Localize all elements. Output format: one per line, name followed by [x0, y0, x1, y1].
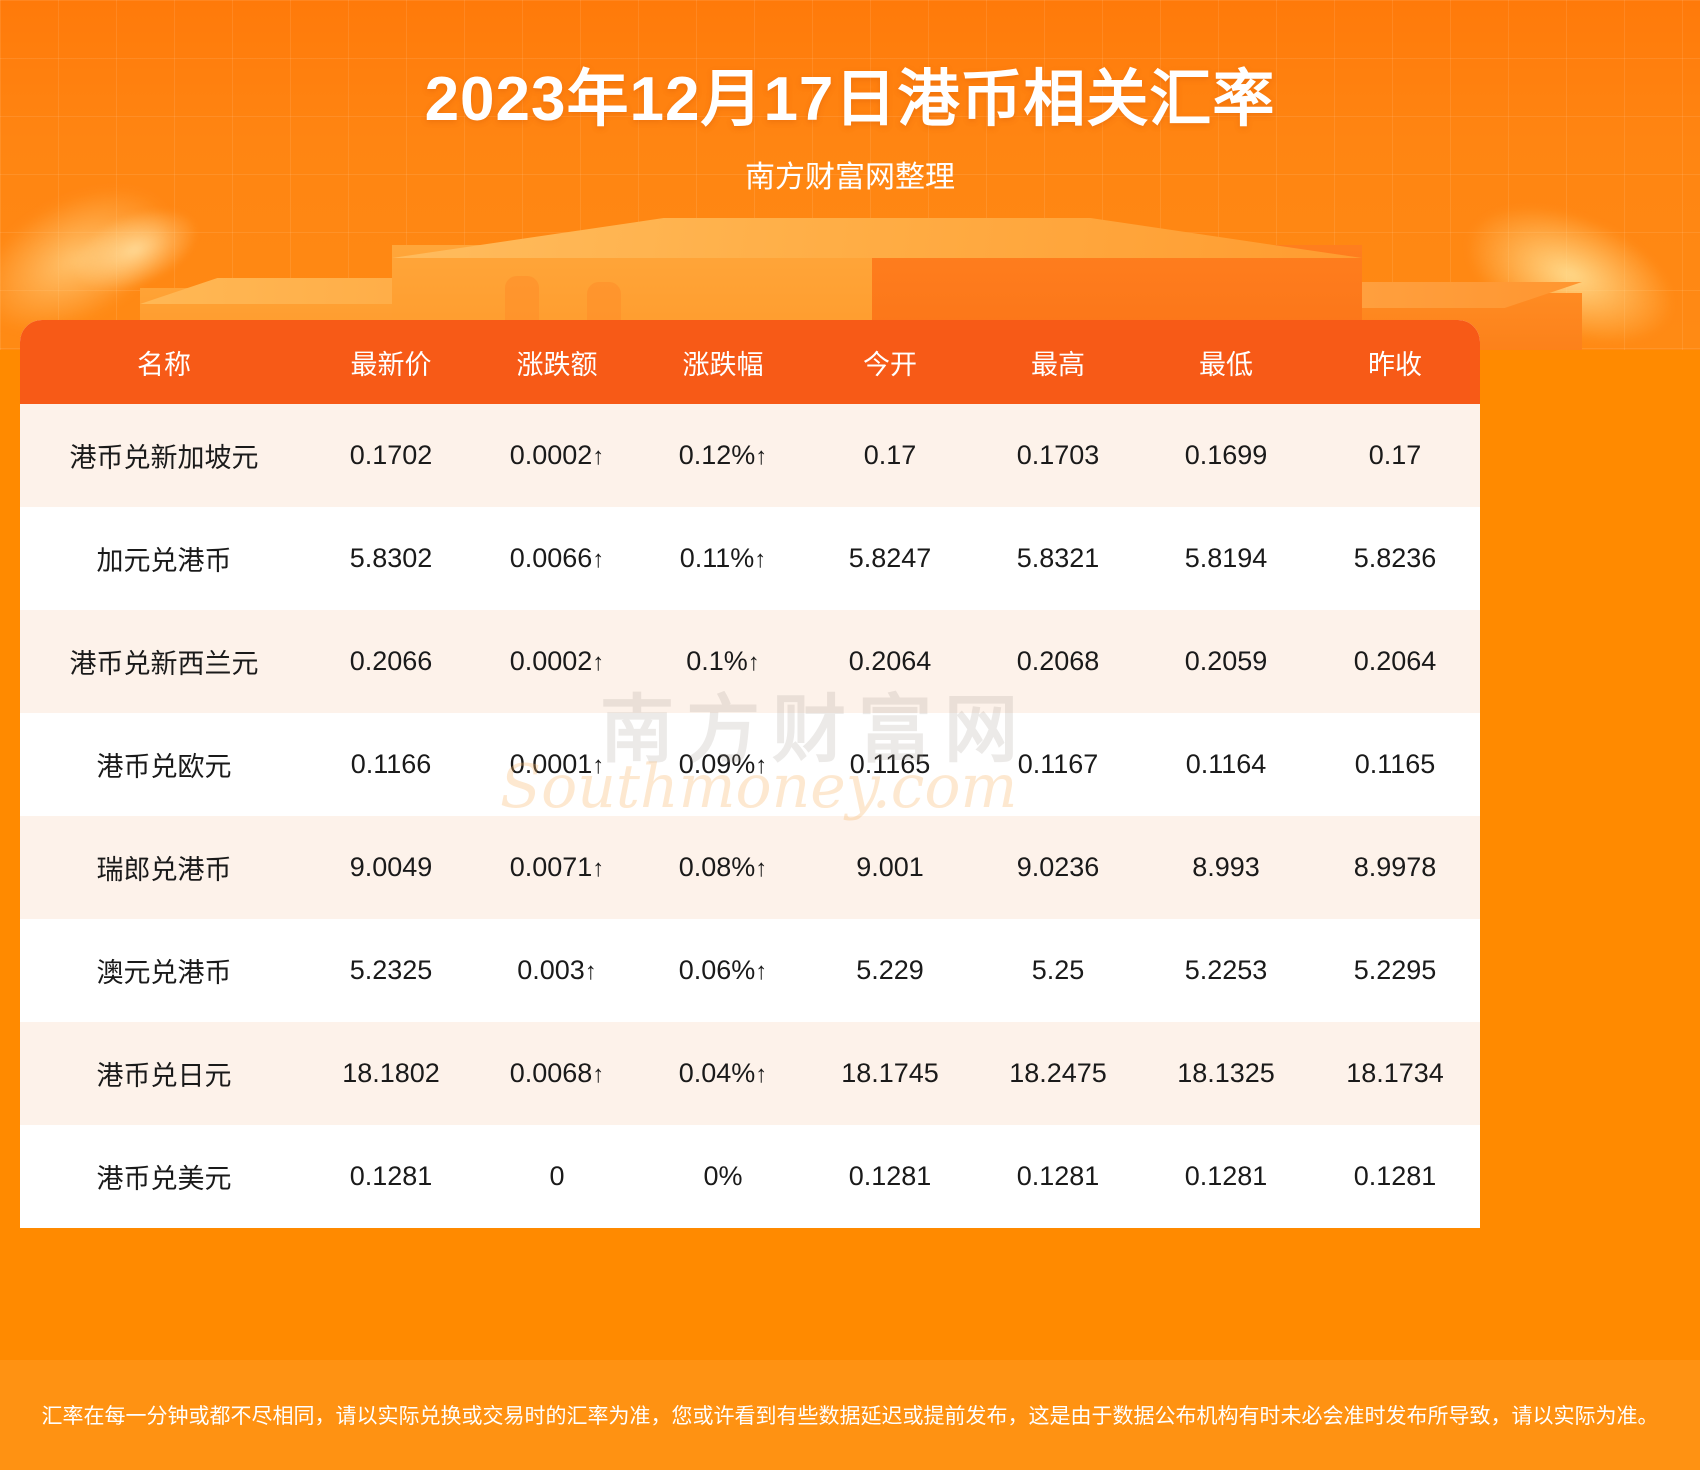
footer-disclaimer-bar: 汇率在每一分钟或都不尽相同，请以实际兑换或交易时的汇率为准，您或许看到有些数据延…: [0, 1360, 1700, 1470]
cell-high-price: 18.2475: [974, 1022, 1142, 1125]
cell-prev-close-price: 0.2064: [1310, 610, 1480, 713]
cell-name: 澳元兑港币: [20, 919, 308, 1022]
cell-latest-price: 9.0049: [308, 816, 474, 919]
arrow-up-icon: ↑: [755, 1061, 767, 1088]
cell-low-price: 5.2253: [1142, 919, 1310, 1022]
cell-change-amount: 0.0002↑: [474, 610, 640, 713]
cell-name: 瑞郎兑港币: [20, 816, 308, 919]
cell-prev-close-price: 5.8236: [1310, 507, 1480, 610]
cell-latest-price: 5.8302: [308, 507, 474, 610]
cell-prev-close-price: 8.9978: [1310, 816, 1480, 919]
arrow-up-icon: ↑: [592, 546, 604, 573]
column-header-name: 名称: [20, 320, 308, 404]
column-header-prev-close: 昨收: [1310, 320, 1480, 404]
cell-low-price: 0.1699: [1142, 404, 1310, 507]
cell-change-percent: 0.04%↑: [640, 1022, 806, 1125]
column-header-pct: 涨跌幅: [640, 320, 806, 404]
cell-name: 港币兑新加坡元: [20, 404, 308, 507]
cell-high-price: 0.1703: [974, 404, 1142, 507]
cell-change-percent: 0.09%↑: [640, 713, 806, 816]
arrow-up-icon: ↑: [592, 649, 604, 676]
cell-low-price: 8.993: [1142, 816, 1310, 919]
cell-change-amount: 0.0071↑: [474, 816, 640, 919]
table-row: 港币兑日元18.18020.0068↑0.04%↑18.174518.24751…: [20, 1022, 1480, 1125]
cell-change-amount: 0.003↑: [474, 919, 640, 1022]
cell-open-price: 0.17: [806, 404, 974, 507]
column-header-change: 涨跌额: [474, 320, 640, 404]
arrow-up-icon: ↑: [592, 443, 604, 470]
page-subtitle: 南方财富网整理: [0, 152, 1700, 196]
cell-change-amount: 0.0001↑: [474, 713, 640, 816]
table-row: 港币兑美元0.128100%0.12810.12810.12810.1281: [20, 1125, 1480, 1228]
arrow-up-icon: ↑: [754, 546, 766, 573]
cell-open-price: 18.1745: [806, 1022, 974, 1125]
cell-change-percent: 0%: [640, 1125, 806, 1228]
table-row: 港币兑新西兰元0.20660.0002↑0.1%↑0.20640.20680.2…: [20, 610, 1480, 713]
table-row: 港币兑新加坡元0.17020.0002↑0.12%↑0.170.17030.16…: [20, 404, 1480, 507]
arrow-up-icon: ↑: [592, 752, 604, 779]
cell-change-amount: 0.0068↑: [474, 1022, 640, 1125]
cell-change-percent: 0.1%↑: [640, 610, 806, 713]
cell-latest-price: 18.1802: [308, 1022, 474, 1125]
column-header-latest: 最新价: [308, 320, 474, 404]
cell-change-percent: 0.08%↑: [640, 816, 806, 919]
cell-open-price: 0.1165: [806, 713, 974, 816]
cell-high-price: 9.0236: [974, 816, 1142, 919]
cell-change-percent: 0.12%↑: [640, 404, 806, 507]
cell-name: 港币兑美元: [20, 1125, 308, 1228]
cell-high-price: 5.25: [974, 919, 1142, 1022]
cell-name: 加元兑港币: [20, 507, 308, 610]
cell-prev-close-price: 0.17: [1310, 404, 1480, 507]
cell-latest-price: 0.1281: [308, 1125, 474, 1228]
cell-high-price: 0.2068: [974, 610, 1142, 713]
cell-high-price: 0.1281: [974, 1125, 1142, 1228]
rates-table-head: 名称 最新价 涨跌额 涨跌幅 今开 最高 最低 昨收: [20, 320, 1480, 404]
cell-open-price: 5.8247: [806, 507, 974, 610]
cell-open-price: 5.229: [806, 919, 974, 1022]
cell-change-amount: 0.0066↑: [474, 507, 640, 610]
rates-table-body: 港币兑新加坡元0.17020.0002↑0.12%↑0.170.17030.16…: [20, 404, 1480, 1228]
podium-notch-one: [505, 276, 539, 326]
cell-low-price: 0.1164: [1142, 713, 1310, 816]
cell-prev-close-price: 0.1165: [1310, 713, 1480, 816]
table-header-row: 名称 最新价 涨跌额 涨跌幅 今开 最高 最低 昨收: [20, 320, 1480, 404]
arrow-up-icon: ↑: [592, 855, 604, 882]
column-header-open: 今开: [806, 320, 974, 404]
cell-open-price: 0.2064: [806, 610, 974, 713]
arrow-up-icon: ↑: [755, 958, 767, 985]
arrow-up-icon: ↑: [748, 649, 760, 676]
cell-open-price: 0.1281: [806, 1125, 974, 1228]
cell-latest-price: 5.2325: [308, 919, 474, 1022]
rates-table-card: 名称 最新价 涨跌额 涨跌幅 今开 最高 最低 昨收 港币兑新加坡元0.1702…: [20, 320, 1480, 1228]
cell-prev-close-price: 18.1734: [1310, 1022, 1480, 1125]
arrow-up-icon: ↑: [592, 1061, 604, 1088]
footer-disclaimer-text: 汇率在每一分钟或都不尽相同，请以实际兑换或交易时的汇率为准，您或许看到有些数据延…: [42, 1400, 1659, 1430]
column-header-low: 最低: [1142, 320, 1310, 404]
cell-low-price: 0.2059: [1142, 610, 1310, 713]
cell-prev-close-price: 0.1281: [1310, 1125, 1480, 1228]
table-row: 澳元兑港币5.23250.003↑0.06%↑5.2295.255.22535.…: [20, 919, 1480, 1022]
page-title: 2023年12月17日港币相关汇率: [0, 48, 1700, 138]
cell-change-percent: 0.11%↑: [640, 507, 806, 610]
podium-block-center-top: [392, 218, 1362, 258]
cell-name: 港币兑欧元: [20, 713, 308, 816]
table-row: 加元兑港币5.83020.0066↑0.11%↑5.82475.83215.81…: [20, 507, 1480, 610]
cell-low-price: 0.1281: [1142, 1125, 1310, 1228]
table-row: 瑞郎兑港币9.00490.0071↑0.08%↑9.0019.02368.993…: [20, 816, 1480, 919]
cell-name: 港币兑日元: [20, 1022, 308, 1125]
cell-change-percent: 0.06%↑: [640, 919, 806, 1022]
table-row: 港币兑欧元0.11660.0001↑0.09%↑0.11650.11670.11…: [20, 713, 1480, 816]
cell-high-price: 5.8321: [974, 507, 1142, 610]
cell-latest-price: 0.2066: [308, 610, 474, 713]
cell-change-amount: 0: [474, 1125, 640, 1228]
arrow-up-icon: ↑: [585, 958, 597, 985]
cell-low-price: 18.1325: [1142, 1022, 1310, 1125]
arrow-up-icon: ↑: [755, 443, 767, 470]
cell-latest-price: 0.1702: [308, 404, 474, 507]
cell-low-price: 5.8194: [1142, 507, 1310, 610]
cell-change-amount: 0.0002↑: [474, 404, 640, 507]
column-header-high: 最高: [974, 320, 1142, 404]
arrow-up-icon: ↑: [755, 855, 767, 882]
cell-open-price: 9.001: [806, 816, 974, 919]
cell-latest-price: 0.1166: [308, 713, 474, 816]
cell-prev-close-price: 5.2295: [1310, 919, 1480, 1022]
page-root: 2023年12月17日港币相关汇率 南方财富网整理 名称 最新价 涨跌额 涨跌幅…: [0, 0, 1700, 1470]
arrow-up-icon: ↑: [755, 752, 767, 779]
rates-table: 名称 最新价 涨跌额 涨跌幅 今开 最高 最低 昨收 港币兑新加坡元0.1702…: [20, 320, 1480, 1228]
cell-high-price: 0.1167: [974, 713, 1142, 816]
cell-name: 港币兑新西兰元: [20, 610, 308, 713]
